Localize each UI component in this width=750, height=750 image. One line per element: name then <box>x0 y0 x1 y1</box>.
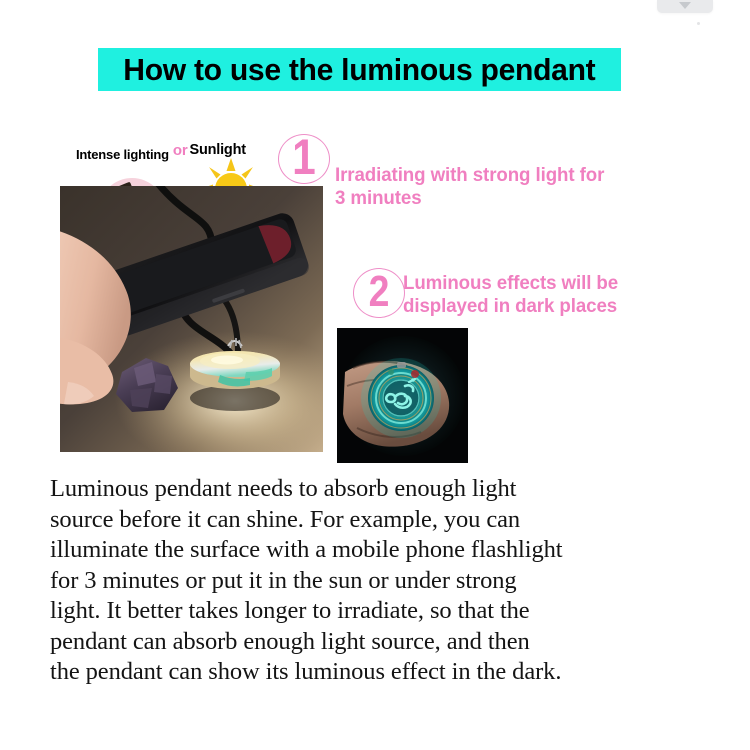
step-1-number-badge: 1 <box>276 132 336 188</box>
label-intense-lighting: Intense lighting <box>76 147 169 162</box>
label-sunlight: Sunlight <box>189 142 245 158</box>
step-2: 2 Luminous effects will be displayed in … <box>351 266 627 322</box>
decorative-dot <box>697 22 700 25</box>
step-1-number: 1 <box>280 132 328 182</box>
top-dropdown-control[interactable] <box>657 0 713 13</box>
photo-glowing-pendant-in-dark <box>337 328 468 463</box>
photo-phone-flashlight-on-pendant <box>60 186 323 452</box>
label-or: or <box>173 142 188 159</box>
title-banner: How to use the luminous pendant <box>98 48 621 91</box>
step-1: 1 Irradiating with strong light for 3 mi… <box>276 132 616 210</box>
step-1-text: Irradiating with strong light for 3 minu… <box>335 164 604 210</box>
description-paragraph: Luminous pendant needs to absorb enough … <box>50 474 710 688</box>
step-2-text: Luminous effects will be displayed in da… <box>403 272 618 318</box>
step-2-number-badge: 2 <box>351 266 411 322</box>
chevron-down-icon <box>679 2 691 9</box>
step-2-number: 2 <box>355 266 403 318</box>
page-title: How to use the luminous pendant <box>123 54 595 85</box>
